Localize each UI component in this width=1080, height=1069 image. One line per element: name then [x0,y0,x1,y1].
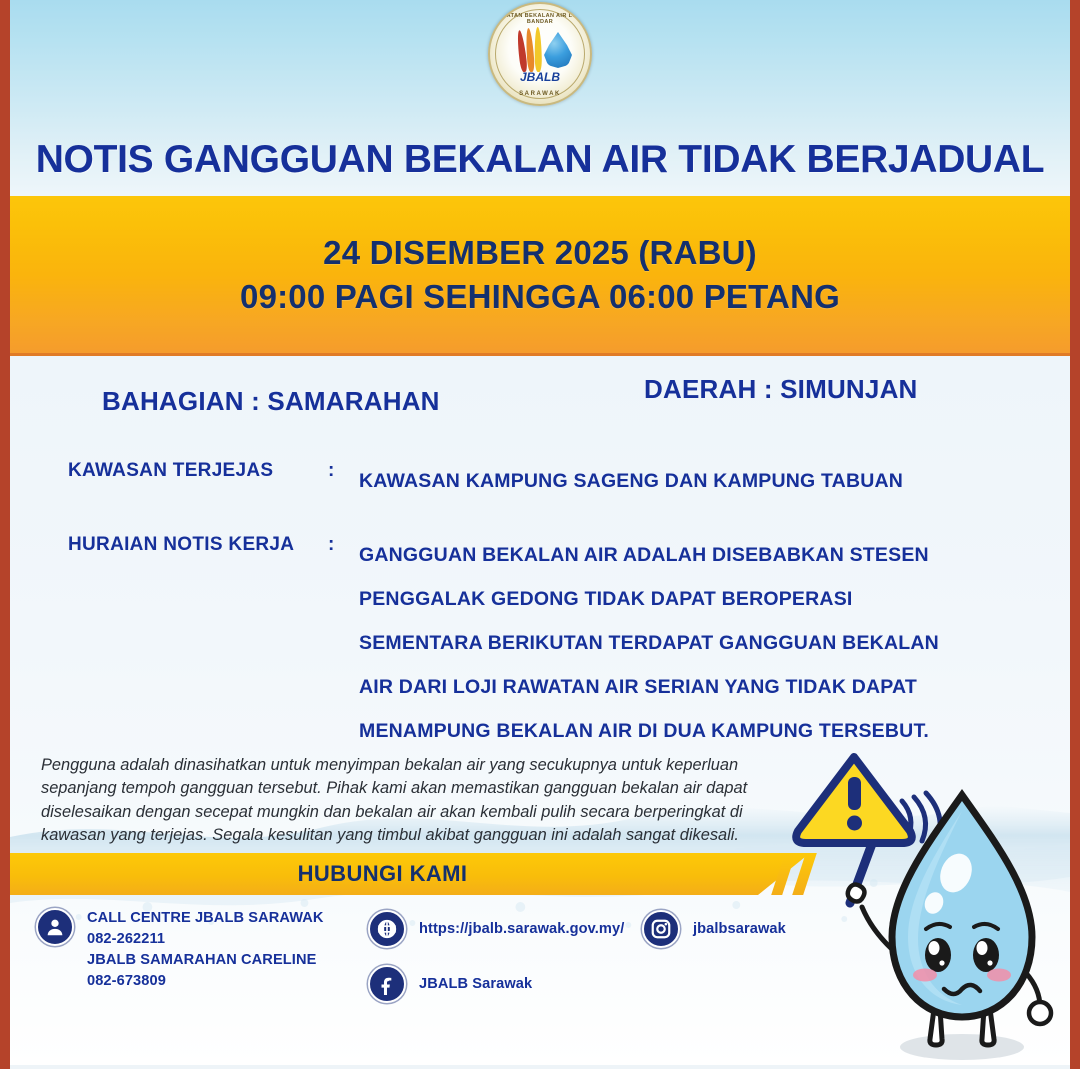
work-notice-line: SEMENTARA BERIKUTAN TERDAPAT GANGGUAN BE… [359,622,939,666]
logo-seal: JABATAN BEKALAN AIR LUAR BANDAR JBALB SA… [488,2,592,106]
call-centre-line4: 082-673809 [87,973,166,989]
facebook-text: JBALB Sarawak [419,965,532,995]
facebook-icon [368,965,406,1003]
notice-poster: JABATAN BEKALAN AIR LUAR BANDAR JBALB SA… [0,0,1080,1069]
work-notice-line: GANGGUAN BEKALAN AIR ADALAH DISEBABKAN S… [359,534,939,578]
date-band: 24 DISEMBER 2025 (RABU) 09:00 PAGI SEHIN… [10,196,1070,356]
work-notice-label: HURAIAN NOTIS KERJA [68,534,294,556]
work-notice-line: PENGGALAK GEDONG TIDAK DAPAT BEROPERASI [359,578,939,622]
logo-ring-text-top: JABATAN BEKALAN AIR LUAR BANDAR [490,13,590,25]
globe-icon [368,910,406,948]
contact-list: CALL CENTRE JBALB SARAWAK 082-262211 JBA… [10,908,1070,1058]
instagram-icon [642,910,680,948]
work-notice-line: MENAMPUNG BEKALAN AIR DI DUA KAMPUNG TER… [359,710,939,754]
affected-area-value: KAWASAN KAMPUNG SAGENG DAN KAMPUNG TABUA… [359,460,903,504]
work-notice-line: AIR DARI LOJI RAWATAN AIR SERIAN YANG TI… [359,666,939,710]
logo-ring-text-bottom: SARAWAK [490,91,590,97]
website-text: https://jbalb.sarawak.gov.my/ [419,910,624,940]
advisory-text: Pengguna adalah dinasihatkan untuk menyi… [41,754,783,847]
work-notice-colon: : [328,534,334,556]
contact-facebook[interactable]: JBALB Sarawak [368,965,532,1003]
jbalb-logo: JABATAN BEKALAN AIR LUAR BANDAR JBALB SA… [488,2,592,106]
page-title: NOTIS GANGGUAN BEKALAN AIR TIDAK BERJADU… [10,138,1070,182]
work-notice-value: GANGGUAN BEKALAN AIR ADALAH DISEBABKAN S… [359,534,939,753]
contact-call-centre[interactable]: CALL CENTRE JBALB SARAWAK 082-262211 JBA… [36,908,324,991]
outage-date: 24 DISEMBER 2025 (RABU) [323,231,757,275]
affected-area-label: KAWASAN TERJEJAS [68,460,273,482]
outage-time: 09:00 PAGI SEHINGGA 06:00 PETANG [240,275,840,319]
poster-header: JABATAN BEKALAN AIR LUAR BANDAR JBALB SA… [10,0,1070,196]
contact-instagram[interactable]: jbalbsarawak [642,910,786,948]
contact-band-label: HUBUNGI KAMI [10,853,755,895]
affected-area-colon: : [328,460,334,482]
logo-wordmark: JBALB [490,70,590,84]
division-label: BAHAGIAN : SAMARAHAN [102,386,440,417]
contact-website[interactable]: https://jbalb.sarawak.gov.my/ [368,910,624,948]
district-label: DAERAH : SIMUNJAN [644,374,918,405]
poster-body: BAHAGIAN : SAMARAHAN DAERAH : SIMUNJAN K… [10,356,1070,1065]
call-centre-line3: JBALB SAMARAHAN CARELINE [87,952,316,968]
call-centre-line1: CALL CENTRE JBALB SARAWAK [87,910,324,926]
person-icon [36,908,74,946]
instagram-text: jbalbsarawak [693,910,786,940]
call-centre-line2: 082-262211 [87,931,165,947]
contact-band: HUBUNGI KAMI [10,853,810,895]
call-centre-text: CALL CENTRE JBALB SARAWAK 082-262211 JBA… [87,908,324,991]
